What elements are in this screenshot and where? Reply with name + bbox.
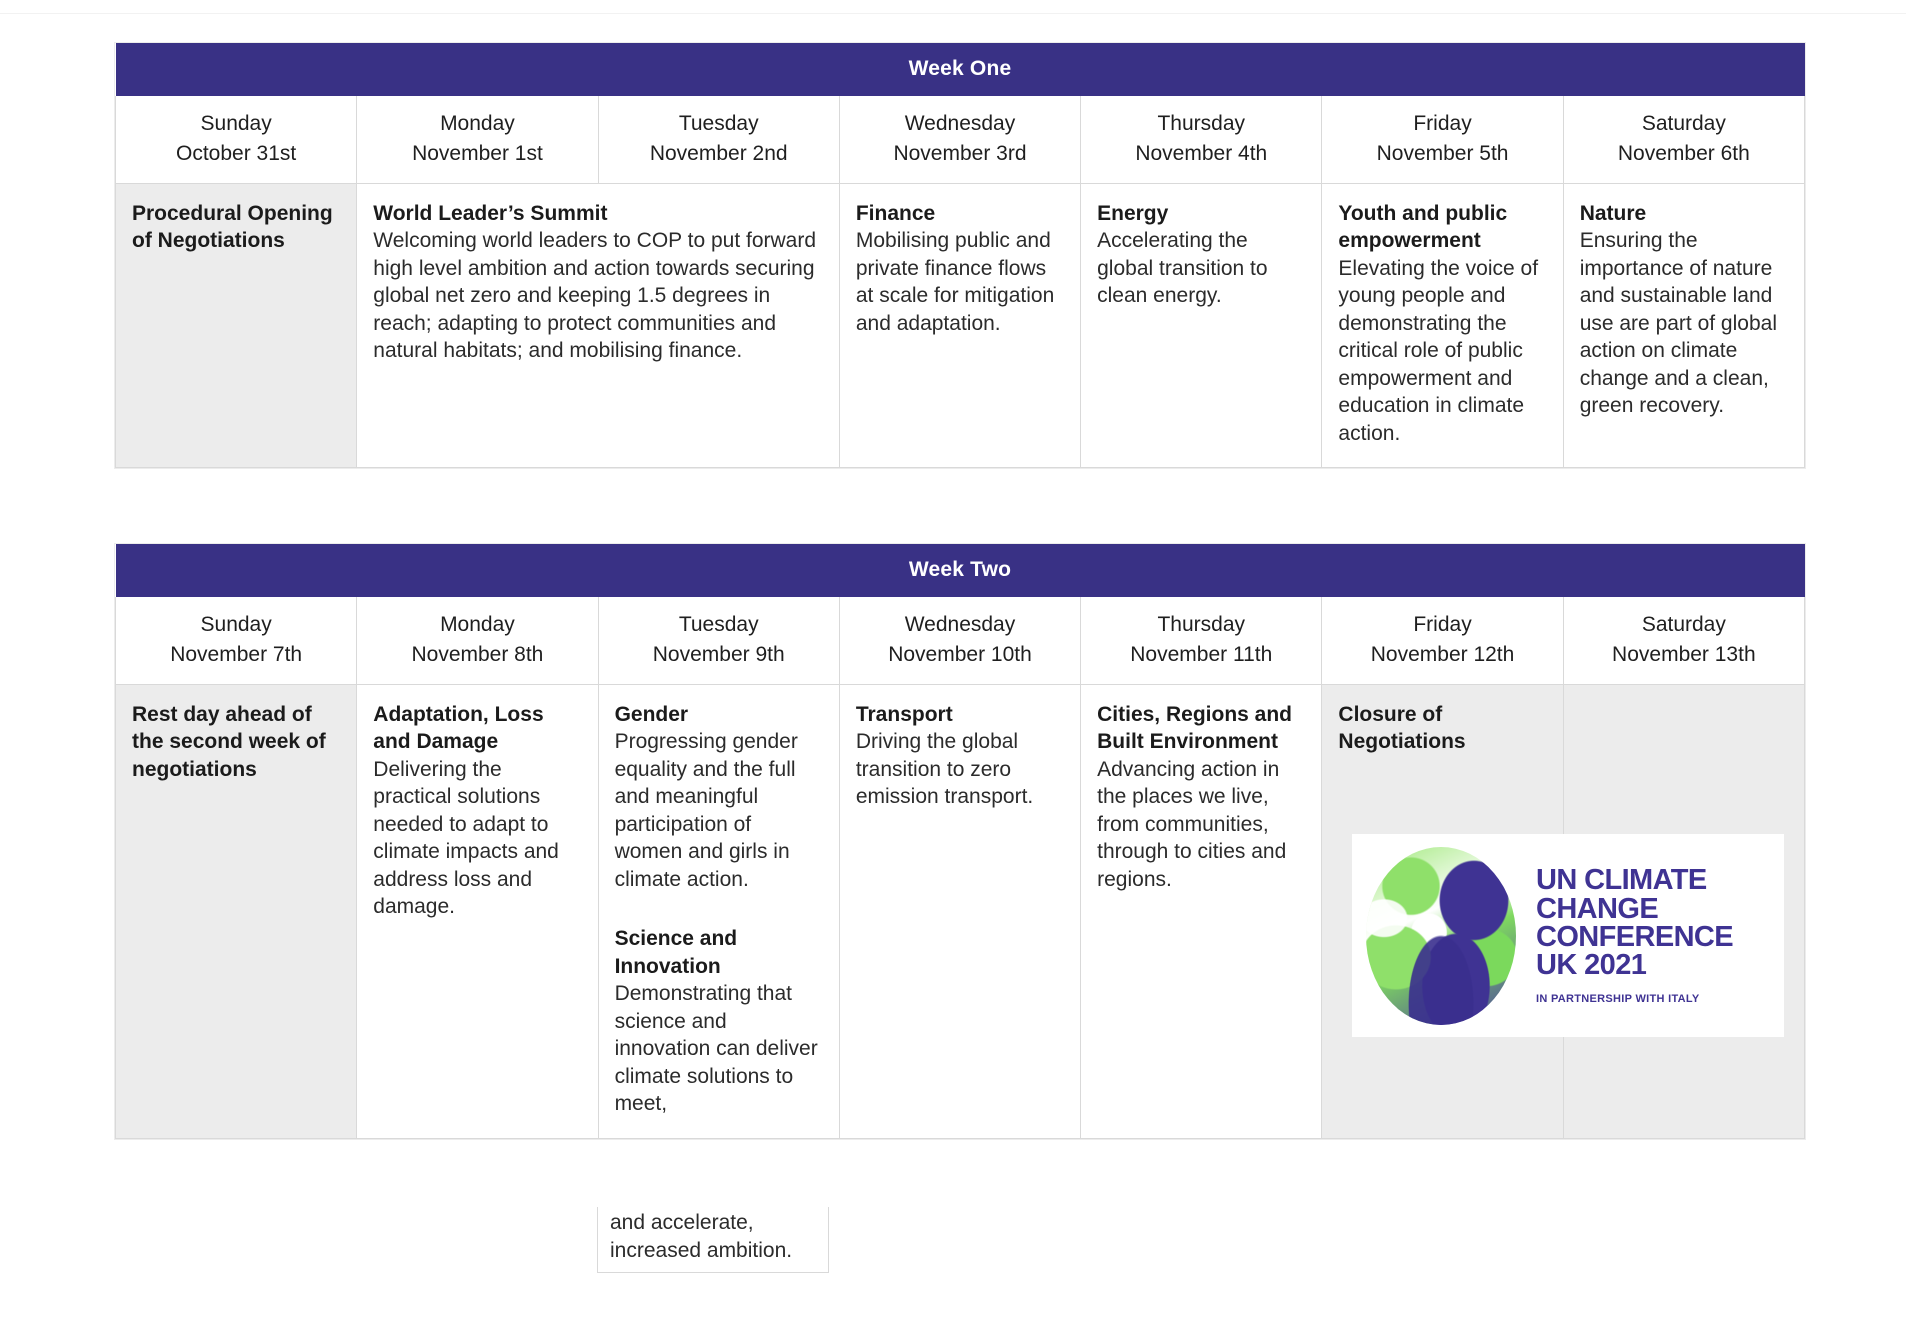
theme-block: Adaptation, Loss and Damage Delivering t…: [373, 701, 579, 921]
theme-block: Transport Driving the global transition …: [856, 701, 1062, 811]
week-one-grid: Week One Sunday October 31st Monday Nove…: [115, 43, 1805, 468]
day-header-thursday: Thursday November 4th: [1081, 96, 1322, 183]
day-name: Monday: [363, 109, 591, 139]
theme-block: Finance Mobilising public and private fi…: [856, 200, 1062, 338]
day-name: Wednesday: [846, 109, 1074, 139]
day-name: Thursday: [1087, 610, 1315, 640]
day-cell-saturday: Nature Ensuring the importance of nature…: [1563, 183, 1804, 468]
day-name: Tuesday: [605, 109, 833, 139]
logo-line-4: UK 2021: [1536, 951, 1733, 979]
day-name: Wednesday: [846, 610, 1074, 640]
day-header-saturday: Saturday November 13th: [1563, 597, 1804, 684]
theme-description: Driving the global transition to zero em…: [856, 730, 1033, 808]
theme-title: Energy: [1097, 202, 1168, 225]
day-cell-friday: Youth and public empowerment Elevating t…: [1322, 183, 1563, 468]
theme-title: Adaptation, Loss and Damage: [373, 703, 543, 754]
day-date: November 3rd: [846, 139, 1074, 169]
week-one-banner-row: Week One: [116, 43, 1805, 96]
day-header-tuesday: Tuesday November 2nd: [598, 96, 839, 183]
theme-description: Advancing action in the places we live, …: [1097, 758, 1286, 891]
day-name: Sunday: [122, 610, 350, 640]
day-date: November 8th: [363, 640, 591, 670]
day-header-wednesday: Wednesday November 10th: [839, 597, 1080, 684]
day-name: Saturday: [1570, 610, 1798, 640]
theme-title: Cities, Regions and Built Environment: [1097, 703, 1292, 754]
day-header-friday: Friday November 12th: [1322, 597, 1563, 684]
day-cell-thursday: Energy Accelerating the global transitio…: [1081, 183, 1322, 468]
week-one-day-header-row: Sunday October 31st Monday November 1st …: [116, 96, 1805, 183]
theme-block: Rest day ahead of the second week of neg…: [132, 701, 338, 784]
theme-description: Elevating the voice of young people and …: [1338, 257, 1538, 445]
theme-title: Nature: [1580, 202, 1647, 225]
day-name: Friday: [1328, 109, 1556, 139]
theme-title: Procedural Opening of Negotiations: [132, 202, 333, 253]
day-date: November 13th: [1570, 640, 1798, 670]
page-top-strip: [0, 0, 1920, 14]
theme-block: Energy Accelerating the global transitio…: [1097, 200, 1303, 310]
theme-description: Demonstrating that science and innovatio…: [615, 982, 818, 1115]
cop26-logo: UN CLIMATE CHANGE CONFERENCE UK 2021 IN …: [1352, 834, 1784, 1037]
day-date: November 5th: [1328, 139, 1556, 169]
day-name: Friday: [1328, 610, 1556, 640]
theme-title: Gender: [615, 703, 689, 726]
theme-block: Procedural Opening of Negotiations: [132, 200, 338, 255]
theme-description: Welcoming world leaders to COP to put fo…: [373, 229, 816, 362]
logo-line-3: CONFERENCE: [1536, 923, 1733, 951]
day-date: November 9th: [605, 640, 833, 670]
theme-block: Closure of Negotiations: [1338, 701, 1544, 756]
globe-icon: [1366, 847, 1516, 1025]
week-two-banner-label: Week Two: [116, 544, 1805, 597]
theme-title: Finance: [856, 202, 935, 225]
week-one-content-row: Procedural Opening of Negotiations World…: [116, 183, 1805, 468]
day-date: November 2nd: [605, 139, 833, 169]
day-date: November 1st: [363, 139, 591, 169]
theme-block: Youth and public empowerment Elevating t…: [1338, 200, 1544, 448]
theme-title: Science and Innovation: [615, 927, 738, 978]
theme-block: Nature Ensuring the importance of nature…: [1580, 200, 1786, 420]
day-header-monday: Monday November 1st: [357, 96, 598, 183]
day-date: November 10th: [846, 640, 1074, 670]
calendar-page: Week One Sunday October 31st Monday Nove…: [0, 0, 1920, 1326]
theme-description: Ensuring the importance of nature and su…: [1580, 229, 1777, 417]
theme-title: Transport: [856, 703, 953, 726]
week-one-table: Week One Sunday October 31st Monday Nove…: [115, 43, 1805, 468]
day-cell-sunday: Procedural Opening of Negotiations: [116, 183, 357, 468]
day-header-thursday: Thursday November 11th: [1081, 597, 1322, 684]
day-date: November 12th: [1328, 640, 1556, 670]
day-header-sunday: Sunday November 7th: [116, 597, 357, 684]
theme-description: Progressing gender equality and the full…: [615, 730, 798, 891]
day-header-friday: Friday November 5th: [1322, 96, 1563, 183]
day-header-wednesday: Wednesday November 3rd: [839, 96, 1080, 183]
day-name: Sunday: [122, 109, 350, 139]
day-name: Monday: [363, 610, 591, 640]
theme-description: Accelerating the global transition to cl…: [1097, 229, 1267, 307]
week-one-banner-label: Week One: [116, 43, 1805, 96]
theme-title: World Leader’s Summit: [373, 202, 607, 225]
day-date: November 6th: [1570, 139, 1798, 169]
day-cell-wednesday: Transport Driving the global transition …: [839, 684, 1080, 1138]
day-header-sunday: Sunday October 31st: [116, 96, 357, 183]
week-two-banner-row: Week Two: [116, 544, 1805, 597]
theme-title: Youth and public empowerment: [1338, 202, 1507, 253]
day-cell-thursday: Cities, Regions and Built Environment Ad…: [1081, 684, 1322, 1138]
theme-block: Cities, Regions and Built Environment Ad…: [1097, 701, 1303, 894]
day-date: November 7th: [122, 640, 350, 670]
day-cell-tuesday: Gender Progressing gender equality and t…: [598, 684, 839, 1138]
day-cell-monday: Adaptation, Loss and Damage Delivering t…: [357, 684, 598, 1138]
logo-partner-line: IN PARTNERSHIP WITH ITALY: [1536, 993, 1733, 1005]
theme-title: Closure of Negotiations: [1338, 703, 1465, 754]
theme-description: Mobilising public and private finance fl…: [856, 229, 1054, 335]
week-two-day-header-row: Sunday November 7th Monday November 8th …: [116, 597, 1805, 684]
logo-line-1: UN CLIMATE: [1536, 866, 1733, 894]
overflow-text: and accelerate, increased ambition.: [597, 1207, 829, 1273]
day-cell-wednesday: Finance Mobilising public and private fi…: [839, 183, 1080, 468]
day-cell-monday: World Leader’s Summit Welcoming world le…: [357, 183, 840, 468]
theme-description: Delivering the practical solutions neede…: [373, 758, 559, 919]
day-date: October 31st: [122, 139, 350, 169]
day-name: Tuesday: [605, 610, 833, 640]
day-date: November 4th: [1087, 139, 1315, 169]
day-name: Thursday: [1087, 109, 1315, 139]
theme-block-secondary: Science and Innovation Demonstrating tha…: [615, 925, 821, 1118]
day-date: November 11th: [1087, 640, 1315, 670]
theme-block: Gender Progressing gender equality and t…: [615, 701, 821, 894]
day-header-saturday: Saturday November 6th: [1563, 96, 1804, 183]
theme-title: Rest day ahead of the second week of neg…: [132, 703, 326, 781]
page-right-gutter: [1906, 0, 1920, 1326]
logo-line-2: CHANGE: [1536, 895, 1733, 923]
day-header-monday: Monday November 8th: [357, 597, 598, 684]
theme-block: World Leader’s Summit Welcoming world le…: [373, 200, 821, 365]
day-name: Saturday: [1570, 109, 1798, 139]
day-header-tuesday: Tuesday November 9th: [598, 597, 839, 684]
day-cell-sunday: Rest day ahead of the second week of neg…: [116, 684, 357, 1138]
logo-wordmark: UN CLIMATE CHANGE CONFERENCE UK 2021 IN …: [1536, 866, 1733, 1005]
